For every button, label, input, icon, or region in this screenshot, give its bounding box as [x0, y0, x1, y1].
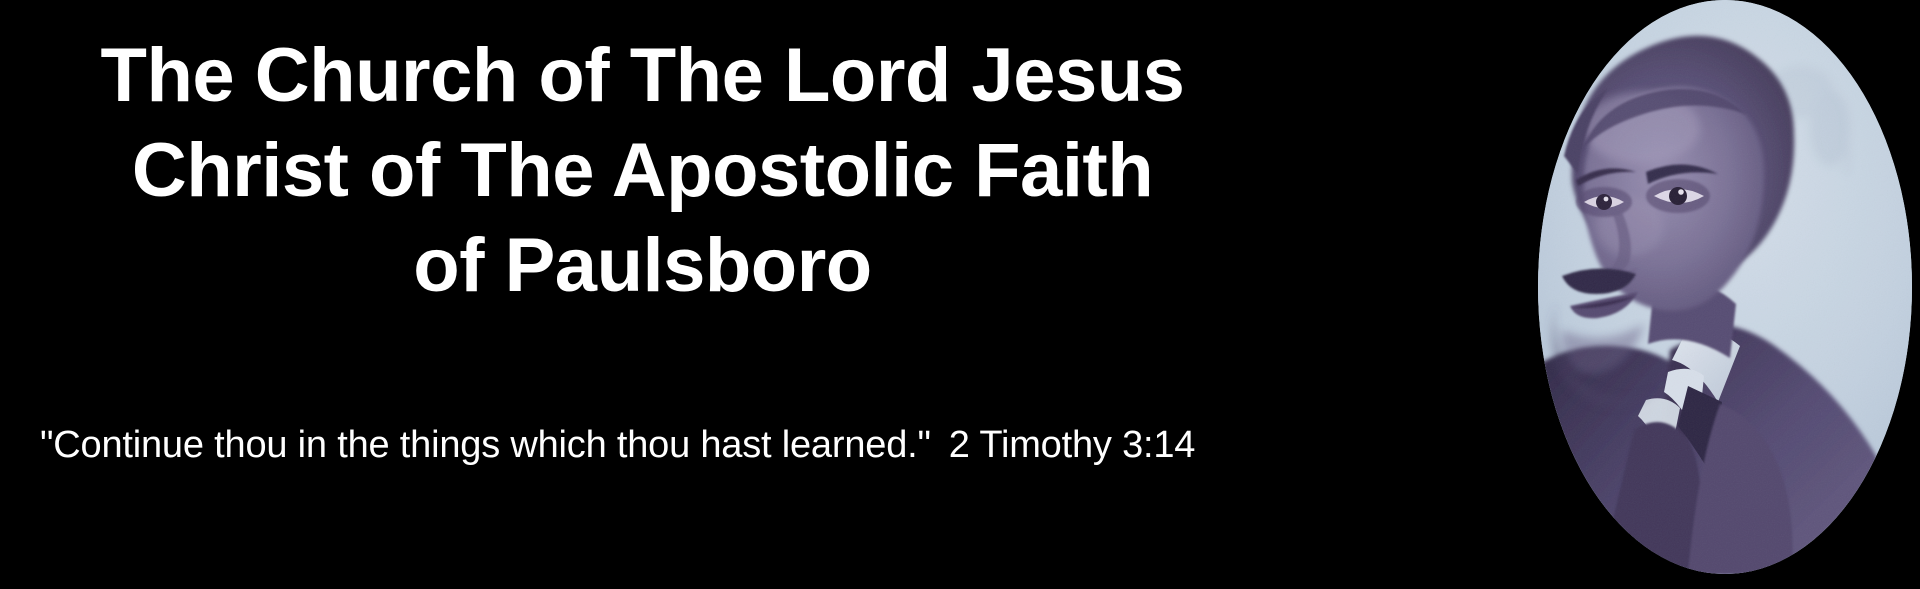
scripture-reference: 2 Timothy 3:14 — [949, 424, 1195, 466]
title-line-3: of Paulsboro — [0, 218, 1285, 313]
title-line-2: Christ of The Apostolic Faith — [0, 123, 1285, 218]
church-banner: The Church of The Lord Jesus Christ of T… — [0, 0, 1920, 589]
portrait-image — [1538, 0, 1912, 574]
scripture-quote: "Continue thou in the things which thou … — [40, 424, 931, 466]
founder-portrait — [1538, 0, 1912, 574]
banner-text-block: The Church of The Lord Jesus Christ of T… — [0, 0, 1285, 589]
title-line-1: The Church of The Lord Jesus — [0, 28, 1285, 123]
scripture-verse: "Continue thou in the things which thou … — [40, 420, 1285, 470]
page-title: The Church of The Lord Jesus Christ of T… — [0, 28, 1285, 313]
